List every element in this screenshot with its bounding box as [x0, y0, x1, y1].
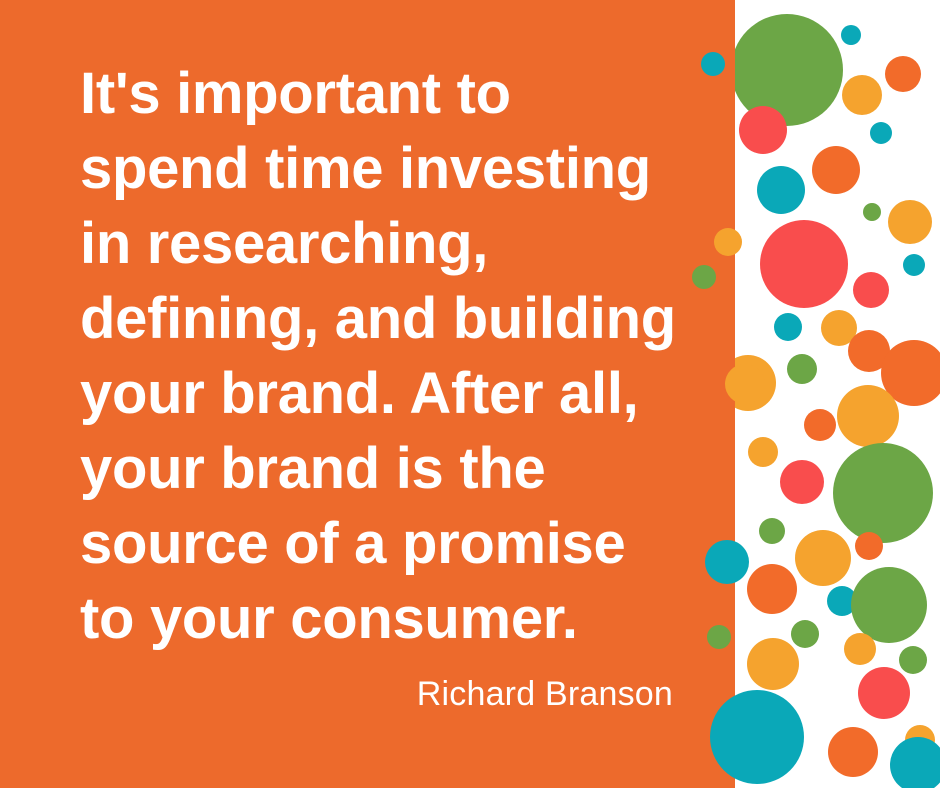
confetti-dot: [853, 272, 889, 308]
confetti-dot: [828, 727, 878, 777]
quote-line: It's important to: [80, 56, 703, 131]
quote-line: your brand. After all,: [80, 356, 703, 431]
confetti-dot: [812, 146, 860, 194]
confetti-dot: [774, 313, 802, 341]
quote-text: It's important to spend time investing i…: [80, 56, 703, 656]
confetti-dot: [858, 667, 910, 719]
confetti-dot: [833, 443, 933, 543]
confetti-dot: [757, 166, 805, 214]
confetti-dot: [731, 14, 843, 126]
confetti-dot: [841, 25, 861, 45]
confetti-dot: [842, 75, 882, 115]
confetti-dot: [780, 460, 824, 504]
quote-line: in researching,: [80, 206, 703, 281]
quote-attribution: Richard Branson: [80, 674, 703, 714]
confetti-dot: [795, 530, 851, 586]
confetti-dot: [760, 220, 848, 308]
confetti-dot: [747, 564, 797, 614]
confetti-dot: [885, 56, 921, 92]
confetti-dot: [748, 437, 778, 467]
confetti-dot: [739, 106, 787, 154]
quote-line: source of a promise: [80, 506, 703, 581]
confetti-dot: [870, 122, 892, 144]
confetti-dot: [759, 518, 785, 544]
confetti-dot: [787, 354, 817, 384]
confetti-dot: [837, 385, 899, 447]
confetti-dot: [888, 200, 932, 244]
quote-line: defining, and building: [80, 281, 703, 356]
confetti-dot: [855, 532, 883, 560]
confetti-dot: [747, 638, 799, 690]
confetti-dot: [844, 633, 876, 665]
confetti-dot: [903, 254, 925, 276]
quote-line: your brand is the: [80, 431, 703, 506]
quote-content: It's important to spend time investing i…: [0, 0, 735, 788]
quote-card: It's important to spend time investing i…: [0, 0, 940, 788]
confetti-dot: [851, 567, 927, 643]
confetti-dot: [791, 620, 819, 648]
quote-line: spend time investing: [80, 131, 703, 206]
confetti-dot: [804, 409, 836, 441]
confetti-dot: [899, 646, 927, 674]
confetti-dot: [863, 203, 881, 221]
quote-line: to your consumer.: [80, 581, 703, 656]
confetti-dot: [890, 737, 940, 788]
